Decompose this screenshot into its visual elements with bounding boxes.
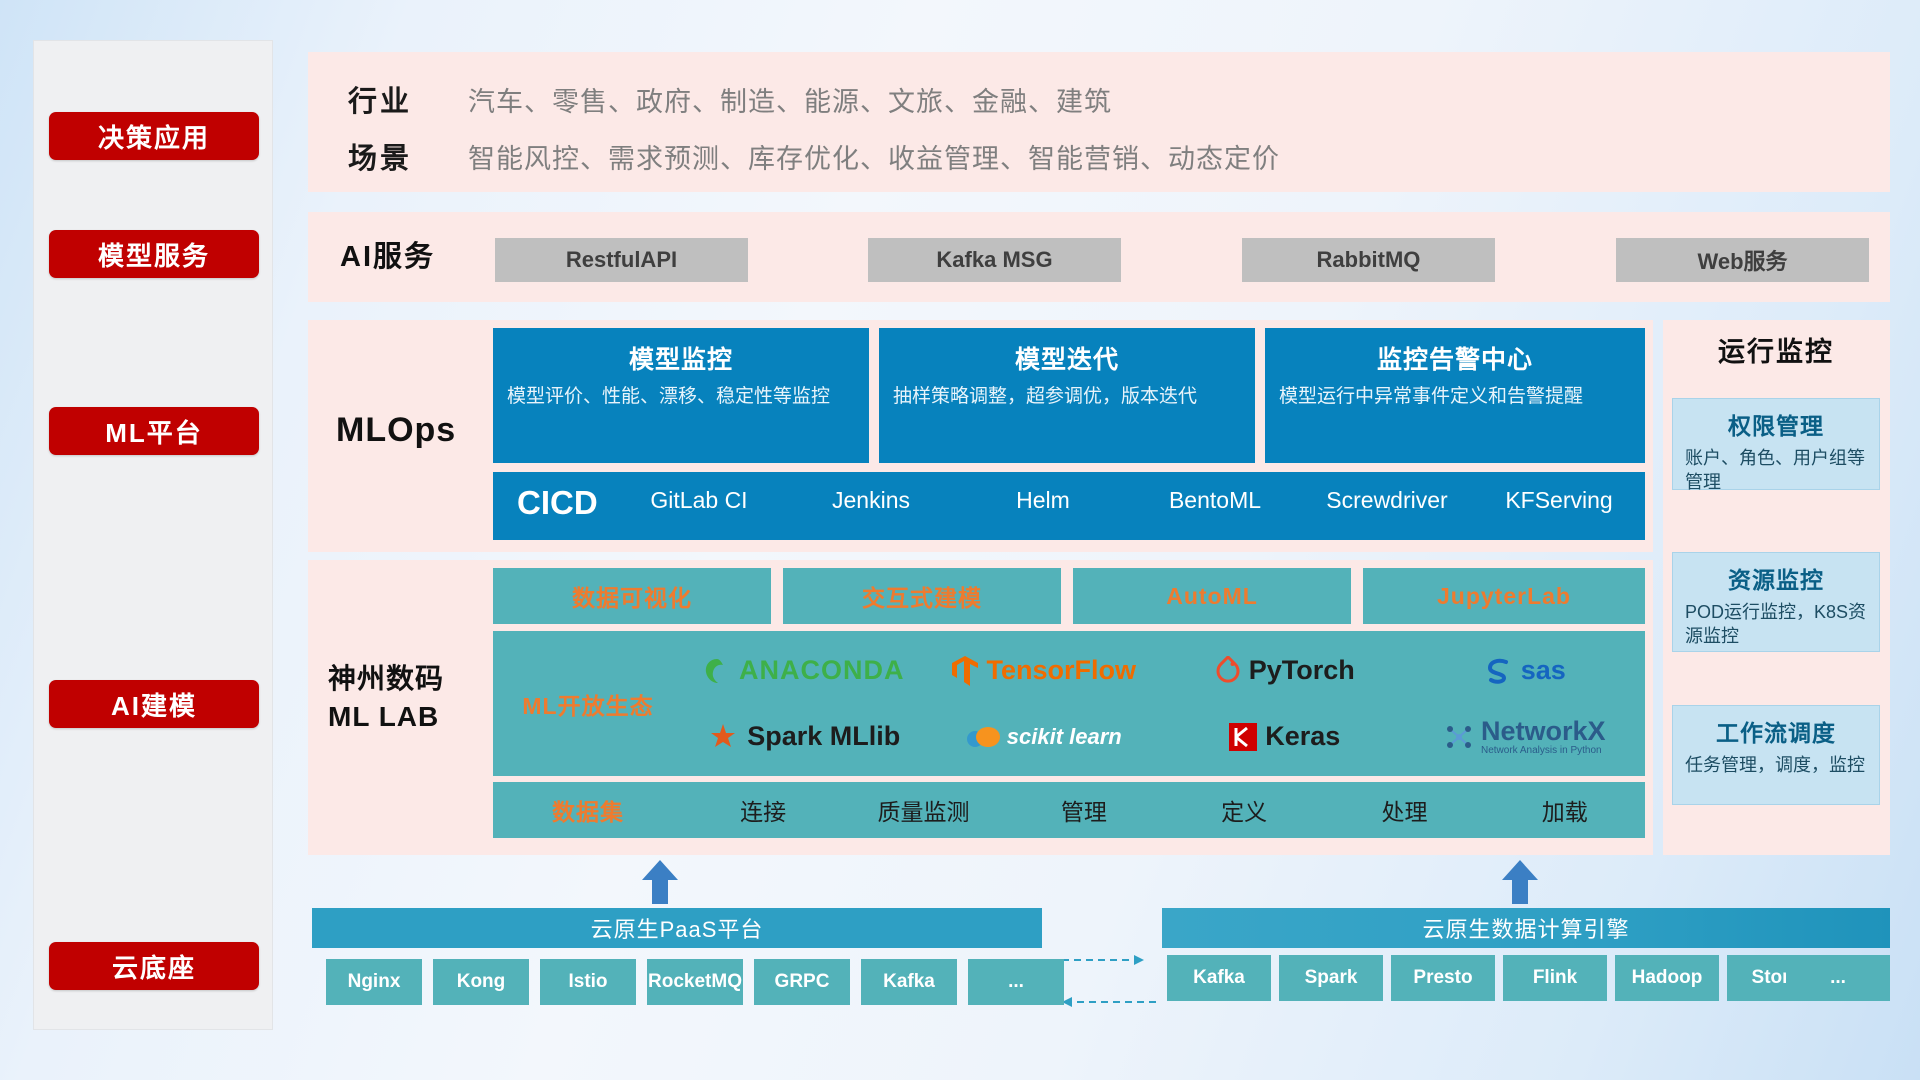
dataset-item-manage[interactable]: 管理 bbox=[1004, 793, 1164, 827]
card-title: 模型迭代 bbox=[893, 340, 1241, 376]
chip-label: ... bbox=[1008, 972, 1024, 993]
logo-scikit-learn: scikit learn bbox=[924, 704, 1165, 770]
arrow-up-engine-icon bbox=[1500, 860, 1540, 904]
service-chip-web-service[interactable]: Web服务 bbox=[1616, 238, 1869, 282]
chip-label: GRPC bbox=[775, 972, 830, 993]
chip-label: Web服务 bbox=[1697, 244, 1787, 276]
chip-label: Hadoop bbox=[1632, 968, 1703, 989]
dataset-item-load[interactable]: 加载 bbox=[1485, 793, 1645, 827]
card-title: 权限管理 bbox=[1685, 407, 1867, 441]
industry-value: 汽车、零售、政府、制造、能源、文旅、金融、建筑 bbox=[468, 80, 1112, 119]
engine-chip-flink[interactable]: Flink bbox=[1503, 955, 1607, 1001]
lab-tool-automl[interactable]: AutoML bbox=[1073, 568, 1351, 624]
lab-tool-interactive-modeling[interactable]: 交互式建模 bbox=[783, 568, 1061, 624]
layer-tag-label: 云底座 bbox=[112, 948, 196, 985]
card-title: 模型监控 bbox=[507, 340, 855, 376]
lab-tool-data-visualization[interactable]: 数据可视化 bbox=[493, 568, 771, 624]
mlops-card-model-iteration[interactable]: 模型迭代 抽样策略调整，超参调优，版本迭代 bbox=[879, 328, 1255, 463]
cicd-item-kfserving[interactable]: KFServing bbox=[1473, 472, 1645, 513]
logo-label: scikit learn bbox=[1007, 724, 1122, 750]
layer-tag-label: AI建模 bbox=[111, 686, 197, 723]
paas-chip-nginx[interactable]: Nginx bbox=[326, 959, 422, 1005]
logo-anaconda: ANACONDA bbox=[683, 638, 924, 704]
dataset-item-process[interactable]: 处理 bbox=[1324, 793, 1484, 827]
tool-label: JupyterLab bbox=[1437, 583, 1571, 610]
keras-icon bbox=[1228, 722, 1258, 752]
cloud-paas-bar[interactable]: 云原生PaaS平台 bbox=[312, 908, 1042, 948]
scikit-learn-icon bbox=[966, 723, 1000, 751]
card-desc: 任务管理，调度，监控 bbox=[1685, 754, 1867, 778]
mlops-card-alert-center[interactable]: 监控告警中心 模型运行中异常事件定义和告警提醒 bbox=[1265, 328, 1645, 463]
engine-chip-spark[interactable]: Spark bbox=[1279, 955, 1383, 1001]
cicd-item-helm[interactable]: Helm bbox=[957, 472, 1129, 513]
dataset-item-connect[interactable]: 连接 bbox=[683, 793, 843, 827]
tensorflow-icon bbox=[951, 655, 979, 687]
card-desc: 模型运行中异常事件定义和告警提醒 bbox=[1279, 385, 1631, 410]
layer-tag-label: ML平台 bbox=[105, 413, 203, 450]
paas-chip-rocketmq[interactable]: RocketMQ bbox=[647, 959, 743, 1005]
bidirectional-connector-icon bbox=[1048, 946, 1158, 1016]
cicd-item-list: GitLab CI Jenkins Helm BentoML Screwdriv… bbox=[613, 472, 1645, 513]
paas-chip-kafka[interactable]: Kafka bbox=[861, 959, 957, 1005]
logo-sas: sas bbox=[1405, 638, 1646, 704]
runtime-monitor-title: 运行监控 bbox=[1718, 330, 1834, 369]
engine-chip-hadoop[interactable]: Hadoop bbox=[1615, 955, 1719, 1001]
networkx-label-group: NetworkX Network Analysis in Python bbox=[1481, 718, 1606, 756]
monitor-card-workflow[interactable]: 工作流调度 任务管理，调度，监控 bbox=[1672, 705, 1880, 805]
cicd-item-jenkins[interactable]: Jenkins bbox=[785, 472, 957, 513]
logo-label: ANACONDA bbox=[739, 655, 905, 686]
ai-service-label: AI服务 bbox=[340, 240, 435, 274]
card-title: 工作流调度 bbox=[1685, 714, 1867, 748]
layer-tag-label: 模型服务 bbox=[98, 236, 210, 273]
engine-chip-presto[interactable]: Presto bbox=[1391, 955, 1495, 1001]
dataset-item-quality[interactable]: 质量监测 bbox=[843, 793, 1003, 827]
ml-lab-label-line1: 神州数码 bbox=[328, 660, 444, 698]
chip-label: Kafka bbox=[883, 972, 935, 993]
logo-label: NetworkX bbox=[1481, 718, 1606, 745]
scenario-label: 场景 bbox=[348, 135, 468, 177]
scenario-row: 场景 智能风控、需求预测、库存优化、收益管理、智能营销、动态定价 bbox=[348, 135, 1280, 177]
card-title: 监控告警中心 bbox=[1279, 340, 1631, 376]
chip-label: Nginx bbox=[348, 972, 401, 993]
chip-label: Kong bbox=[457, 972, 506, 993]
service-chip-rabbitmq[interactable]: RabbitMQ bbox=[1242, 238, 1495, 282]
card-title: 资源监控 bbox=[1685, 561, 1867, 595]
layer-rail bbox=[33, 40, 273, 1030]
tool-label: AutoML bbox=[1166, 583, 1258, 610]
sas-icon bbox=[1484, 656, 1514, 686]
chip-label: RocketMQ bbox=[648, 972, 742, 993]
layer-tag-cloud-base[interactable]: 云底座 bbox=[49, 942, 259, 990]
pytorch-icon bbox=[1214, 656, 1242, 686]
architecture-diagram: 决策应用 模型服务 ML平台 AI建模 云底座 行业 汽车、零售、政府、制造、能… bbox=[0, 0, 1920, 1080]
card-desc: 抽样策略调整，超参调优，版本迭代 bbox=[893, 385, 1241, 410]
tool-label: 交互式建模 bbox=[862, 579, 982, 613]
service-chip-kafka-msg[interactable]: Kafka MSG bbox=[868, 238, 1121, 282]
chip-label: RestfulAPI bbox=[566, 247, 677, 273]
industry-label: 行业 bbox=[348, 78, 468, 120]
logo-pytorch: PyTorch bbox=[1164, 638, 1405, 704]
logo-label: Keras bbox=[1265, 721, 1340, 752]
logo-label: sas bbox=[1521, 655, 1566, 686]
lab-tool-jupyterlab[interactable]: JupyterLab bbox=[1363, 568, 1645, 624]
card-desc: 模型评价、性能、漂移、稳定性等监控 bbox=[507, 385, 855, 410]
dataset-row: 数据集 连接 质量监测 管理 定义 处理 加载 bbox=[493, 782, 1645, 838]
cicd-title: CICD bbox=[493, 472, 613, 522]
scenario-value: 智能风控、需求预测、库存优化、收益管理、智能营销、动态定价 bbox=[468, 137, 1280, 176]
tool-label: 数据可视化 bbox=[572, 579, 692, 613]
networkx-subtitle: Network Analysis in Python bbox=[1481, 745, 1606, 756]
arrow-up-paas-icon bbox=[640, 860, 680, 904]
cloud-engine-title: 云原生数据计算引擎 bbox=[1422, 912, 1629, 944]
chip-label: Flink bbox=[1533, 968, 1577, 989]
cicd-item-gitlab-ci[interactable]: GitLab CI bbox=[613, 472, 785, 513]
monitor-card-resource[interactable]: 资源监控 POD运行监控，K8S资源监控 bbox=[1672, 552, 1880, 652]
card-desc: 账户、角色、用户组等管理 bbox=[1685, 447, 1867, 495]
anaconda-icon bbox=[702, 656, 732, 686]
ml-open-ecosystem-title: ML开放生态 bbox=[493, 687, 683, 721]
chip-label: Spark bbox=[1305, 968, 1358, 989]
ml-lab-label-line2: ML LAB bbox=[328, 698, 444, 736]
framework-logo-grid: ANACONDA TensorFlow PyTorch sas bbox=[683, 638, 1645, 770]
paas-chip-grpc[interactable]: GRPC bbox=[754, 959, 850, 1005]
logo-label: PyTorch bbox=[1249, 655, 1355, 686]
chip-label: Presto bbox=[1413, 968, 1472, 989]
layer-tag-label: 决策应用 bbox=[98, 118, 210, 155]
networkx-icon bbox=[1444, 723, 1474, 751]
logo-tensorflow: TensorFlow bbox=[924, 638, 1165, 704]
layer-tag-decision-apps[interactable]: 决策应用 bbox=[49, 112, 259, 160]
cicd-bar: CICD GitLab CI Jenkins Helm BentoML Scre… bbox=[493, 472, 1645, 540]
paas-chip-kong[interactable]: Kong bbox=[433, 959, 529, 1005]
chip-label: Kafka bbox=[1193, 968, 1245, 989]
industry-row: 行业 汽车、零售、政府、制造、能源、文旅、金融、建筑 bbox=[348, 78, 1112, 120]
logo-keras: Keras bbox=[1164, 704, 1405, 770]
cloud-paas-title: 云原生PaaS平台 bbox=[591, 912, 764, 944]
logo-label: Spark MLlib bbox=[747, 721, 900, 752]
chip-label: Istio bbox=[568, 972, 607, 993]
logo-label: TensorFlow bbox=[986, 655, 1136, 686]
card-desc: POD运行监控，K8S资源监控 bbox=[1685, 601, 1867, 649]
dataset-item-define[interactable]: 定义 bbox=[1164, 793, 1324, 827]
spark-icon bbox=[706, 722, 740, 752]
engine-chip-more[interactable]: ... bbox=[1786, 955, 1890, 1001]
cicd-item-screwdriver[interactable]: Screwdriver bbox=[1301, 472, 1473, 513]
mlops-label: MLOps bbox=[336, 410, 456, 450]
layer-tag-ai-modeling[interactable]: AI建模 bbox=[49, 680, 259, 728]
cicd-item-bentoml[interactable]: BentoML bbox=[1129, 472, 1301, 513]
cloud-engine-bar[interactable]: 云原生数据计算引擎 bbox=[1162, 908, 1890, 948]
logo-spark-mllib: Spark MLlib bbox=[683, 704, 924, 770]
layer-tag-model-service[interactable]: 模型服务 bbox=[49, 230, 259, 278]
logo-networkx: NetworkX Network Analysis in Python bbox=[1405, 704, 1646, 770]
layer-tag-ml-platform[interactable]: ML平台 bbox=[49, 407, 259, 455]
monitor-card-permission[interactable]: 权限管理 账户、角色、用户组等管理 bbox=[1672, 398, 1880, 490]
dataset-title: 数据集 bbox=[493, 793, 683, 827]
paas-chip-more[interactable]: ... bbox=[968, 959, 1064, 1005]
ml-lab-label: 神州数码 ML LAB bbox=[328, 660, 444, 736]
chip-label: RabbitMQ bbox=[1317, 247, 1421, 273]
chip-label: ... bbox=[1830, 968, 1846, 989]
ml-open-ecosystem: ML开放生态 ANACONDA TensorFlow PyTorch bbox=[493, 631, 1645, 776]
dataset-item-list: 连接 质量监测 管理 定义 处理 加载 bbox=[683, 793, 1645, 827]
mlops-card-model-monitoring[interactable]: 模型监控 模型评价、性能、漂移、稳定性等监控 bbox=[493, 328, 869, 463]
engine-chip-kafka[interactable]: Kafka bbox=[1167, 955, 1271, 1001]
paas-chip-istio[interactable]: Istio bbox=[540, 959, 636, 1005]
service-chip-restfulapi[interactable]: RestfulAPI bbox=[495, 238, 748, 282]
chip-label: Kafka MSG bbox=[936, 247, 1052, 273]
